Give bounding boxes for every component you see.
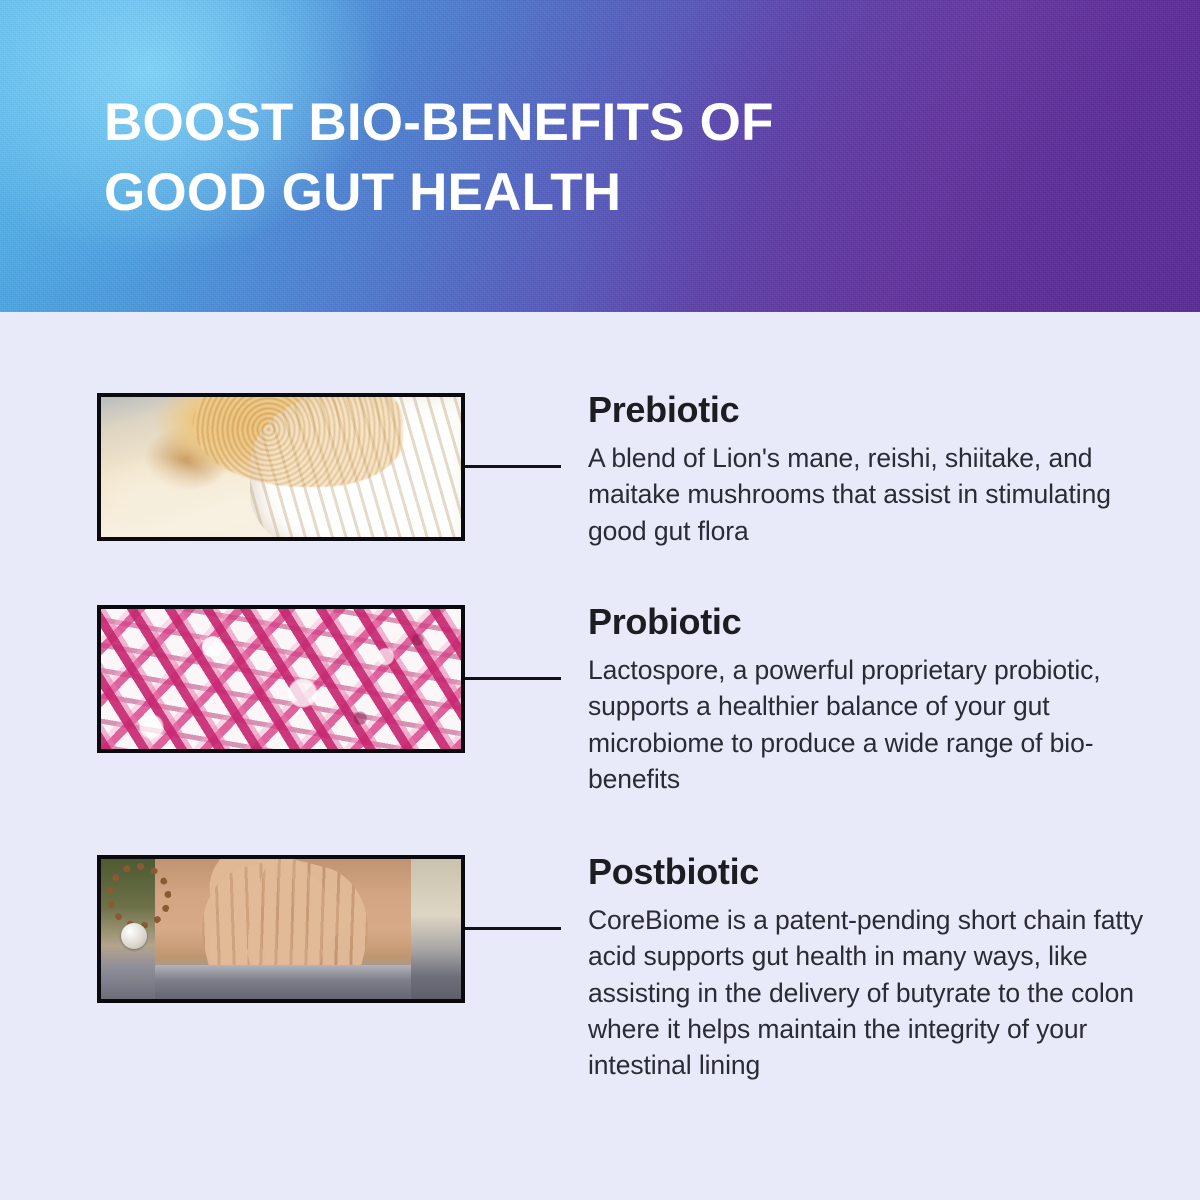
- hero-header-banner: BOOST BIO-BENEFITS OF GOOD GUT HEALTH: [0, 0, 1200, 312]
- connector-line-probiotic: [465, 677, 561, 680]
- intestinal-villi-micrograph-image: [101, 609, 461, 749]
- benefit-title-postbiotic: Postbiotic: [588, 851, 1154, 893]
- bracelet-charm: [121, 923, 147, 949]
- benefit-description-postbiotic: CoreBiome is a patent-pending short chai…: [588, 902, 1154, 1083]
- benefit-text-probiotic: Probiotic Lactospore, a powerful proprie…: [588, 601, 1154, 797]
- page-title-line-1: BOOST BIO-BENEFITS OF: [104, 88, 1004, 158]
- thumbnail-postbiotic: [97, 855, 465, 1003]
- benefits-content-area: Prebiotic A blend of Lion's mane, reishi…: [0, 312, 1200, 1200]
- benefit-text-postbiotic: Postbiotic CoreBiome is a patent-pending…: [588, 851, 1154, 1083]
- lions-mane-mushroom-image: [101, 397, 461, 537]
- torso-shape: [155, 859, 411, 999]
- benefit-description-probiotic: Lactospore, a powerful proprietary probi…: [588, 652, 1154, 797]
- page-title: BOOST BIO-BENEFITS OF GOOD GUT HEALTH: [104, 88, 1004, 229]
- photo-background-right: [403, 859, 461, 999]
- benefit-text-prebiotic: Prebiotic A blend of Lion's mane, reishi…: [588, 389, 1154, 549]
- thumbnail-prebiotic: [97, 393, 465, 541]
- benefit-title-prebiotic: Prebiotic: [588, 389, 1154, 431]
- hands-heart-belly-image: [101, 859, 461, 999]
- benefit-title-probiotic: Probiotic: [588, 601, 1154, 643]
- page-title-line-2: GOOD GUT HEALTH: [104, 158, 1004, 228]
- connector-line-prebiotic: [465, 465, 561, 468]
- waistband-shape: [155, 965, 411, 999]
- benefit-description-prebiotic: A blend of Lion's mane, reishi, shiitake…: [588, 440, 1154, 549]
- thumbnail-probiotic: [97, 605, 465, 753]
- connector-line-postbiotic: [465, 927, 561, 930]
